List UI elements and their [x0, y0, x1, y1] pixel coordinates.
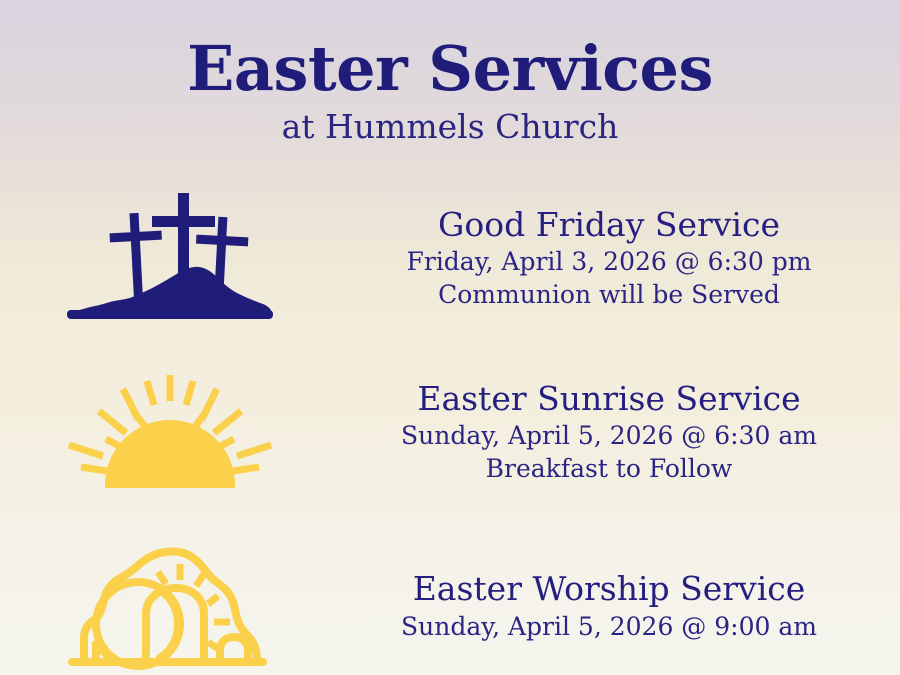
poster-header: Easter Services at Hummels Church	[0, 0, 900, 145]
service-text-cell: Easter Worship Service Sunday, April 5, …	[340, 569, 900, 642]
row-spacer	[0, 512, 900, 526]
page-title: Easter Services	[0, 0, 900, 103]
service-row: Easter Worship Service Sunday, April 5, …	[0, 526, 900, 675]
services-list: Good Friday Service Friday, April 3, 202…	[0, 178, 900, 675]
three-crosses-icon-cell	[0, 178, 340, 338]
three-crosses-icon	[65, 191, 275, 326]
empty-tomb-icon-cell	[0, 526, 340, 675]
service-title: Easter Sunrise Service	[340, 379, 878, 419]
sunrise-icon	[55, 367, 285, 497]
service-row: Easter Sunrise Service Sunday, April 5, …	[0, 352, 900, 512]
easter-services-poster: Easter Services at Hummels Church	[0, 0, 900, 675]
service-datetime: Friday, April 3, 2026 @ 6:30 pm	[340, 245, 878, 278]
service-datetime: Sunday, April 5, 2026 @ 9:00 am	[340, 610, 878, 643]
service-text-cell: Good Friday Service Friday, April 3, 202…	[340, 205, 900, 311]
page-subtitle: at Hummels Church	[0, 103, 900, 145]
service-note: Communion will be Served	[340, 278, 878, 311]
service-note: Breakfast to Follow	[340, 452, 878, 485]
sunrise-icon-cell	[0, 352, 340, 512]
service-title: Easter Worship Service	[340, 569, 878, 609]
service-row: Good Friday Service Friday, April 3, 202…	[0, 178, 900, 338]
service-title: Good Friday Service	[340, 205, 878, 245]
service-text-cell: Easter Sunrise Service Sunday, April 5, …	[340, 379, 900, 485]
service-datetime: Sunday, April 5, 2026 @ 6:30 am	[340, 419, 878, 452]
empty-tomb-icon	[58, 534, 283, 675]
row-spacer	[0, 338, 900, 352]
